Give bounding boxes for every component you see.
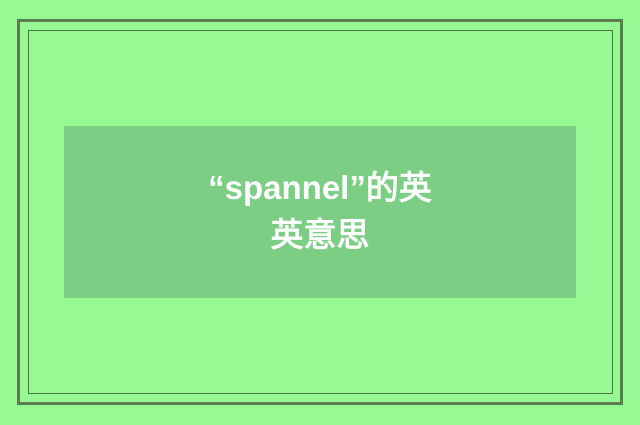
poster-canvas: “spannel”的英英意思 <box>0 0 640 425</box>
title-card: “spannel”的英英意思 <box>64 126 576 298</box>
page-title: “spannel”的英英意思 <box>203 165 437 259</box>
